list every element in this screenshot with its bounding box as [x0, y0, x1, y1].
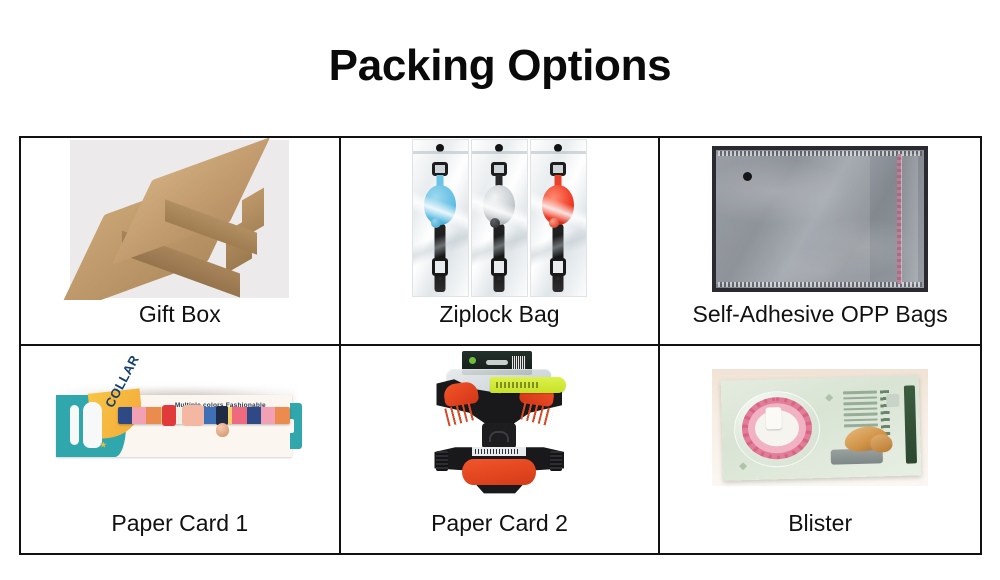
vent-hole-icon [557, 277, 560, 280]
hang-hole-icon [70, 405, 79, 445]
collar-disc [483, 185, 515, 225]
collar-bell [216, 423, 229, 437]
opp-bag-panel [716, 154, 870, 284]
gift-box-image [21, 138, 339, 300]
red-collar-holder [531, 162, 586, 290]
packing-option-cell-paper-card-1[interactable]: CAT COLLAR Multiple colors Fashionable [21, 346, 341, 554]
cell-label-opp-bags: Self-Adhesive OPP Bags [660, 300, 980, 344]
zip-seal [472, 151, 527, 154]
opp-bag-photo [712, 146, 928, 292]
collar-bell [549, 218, 559, 228]
harness-strap-label [472, 447, 526, 456]
harness-handle [489, 431, 509, 442]
vent-hole-icon [439, 277, 442, 280]
harness-belly-pad [462, 459, 536, 485]
dog-harness [428, 379, 570, 499]
dog-photo [830, 424, 893, 470]
collar-clip [491, 162, 507, 176]
green-dot-icon [469, 357, 476, 364]
collar-clip [432, 162, 448, 176]
gift-box-photo [70, 140, 289, 298]
barcode-icon [512, 356, 526, 369]
opp-bag-bottom-edge [718, 282, 922, 287]
zip-seal [413, 151, 468, 154]
collar-disc [542, 185, 574, 225]
cell-label-ziplock-bag: Ziplock Bag [341, 300, 659, 344]
harness-buckle-right [550, 451, 562, 471]
cell-label-blister: Blister [660, 509, 980, 553]
collar-bell [431, 218, 441, 228]
collar-buckle [491, 258, 507, 276]
ziplock-bag-black [471, 139, 528, 297]
zip-seal [531, 151, 586, 154]
opp-bag-top-edge [718, 151, 922, 156]
collar-ring [182, 405, 204, 426]
yellow-product-label [490, 377, 566, 393]
black-collar-holder [472, 162, 527, 290]
hang-slot-icon [83, 402, 102, 448]
card-green-strip [904, 385, 917, 463]
packing-option-cell-paper-card-2[interactable]: Paper Card 2 [341, 346, 661, 554]
page-title: Packing Options [0, 40, 1000, 92]
collar-buckle [162, 405, 176, 426]
card-swatch [886, 394, 899, 407]
opp-bag [716, 150, 924, 288]
blister-image [660, 346, 980, 510]
collar-clip [550, 162, 566, 176]
opp-bag-image [660, 138, 980, 300]
ziplock-bag-blue [412, 139, 469, 297]
harness-buckle-left [436, 451, 448, 471]
cat-collar [118, 407, 290, 424]
collar-buckle [550, 258, 566, 276]
blister-backing-card [721, 375, 922, 480]
paper-card-2-image [341, 346, 659, 510]
cell-label-gift-box: Gift Box [21, 300, 339, 344]
blue-collar-holder [413, 162, 468, 290]
blister-photo [712, 369, 928, 486]
leaf-icon [739, 462, 747, 470]
ziplock-bag-red [530, 139, 587, 297]
packing-options-page: Packing Options Gift Box [0, 0, 1000, 580]
dog-head [870, 434, 892, 453]
card-copy-lines [843, 390, 878, 426]
seal-flap [901, 154, 918, 284]
collar-bell [490, 218, 500, 228]
packing-option-cell-blister[interactable]: Blister [660, 346, 980, 554]
leaf-icon [825, 393, 833, 401]
hang-hole-icon [486, 360, 508, 365]
paper-card-2-photo [418, 351, 580, 503]
packing-option-cell-gift-box[interactable]: Gift Box [21, 138, 341, 346]
hang-hole-icon [743, 172, 752, 181]
packing-option-cell-ziplock-bag[interactable]: Ziplock Bag [341, 138, 661, 346]
ziplock-bag-photo [410, 139, 589, 299]
ziplock-bag-image [341, 138, 659, 300]
vent-hole-icon [498, 277, 501, 280]
collar-buckle [766, 407, 783, 429]
paper-card-1-image: CAT COLLAR Multiple colors Fashionable [21, 346, 339, 510]
paper-card-1-photo: CAT COLLAR Multiple colors Fashionable [56, 381, 304, 473]
packing-option-cell-opp-bags[interactable]: Self-Adhesive OPP Bags [660, 138, 980, 346]
card-right-tab [290, 403, 302, 449]
collar-buckle [432, 258, 448, 276]
cell-label-paper-card-1: Paper Card 1 [21, 509, 339, 553]
cell-label-paper-card-2: Paper Card 2 [341, 509, 659, 553]
collar-disc [424, 185, 456, 225]
packing-options-table: Gift Box [19, 136, 982, 555]
